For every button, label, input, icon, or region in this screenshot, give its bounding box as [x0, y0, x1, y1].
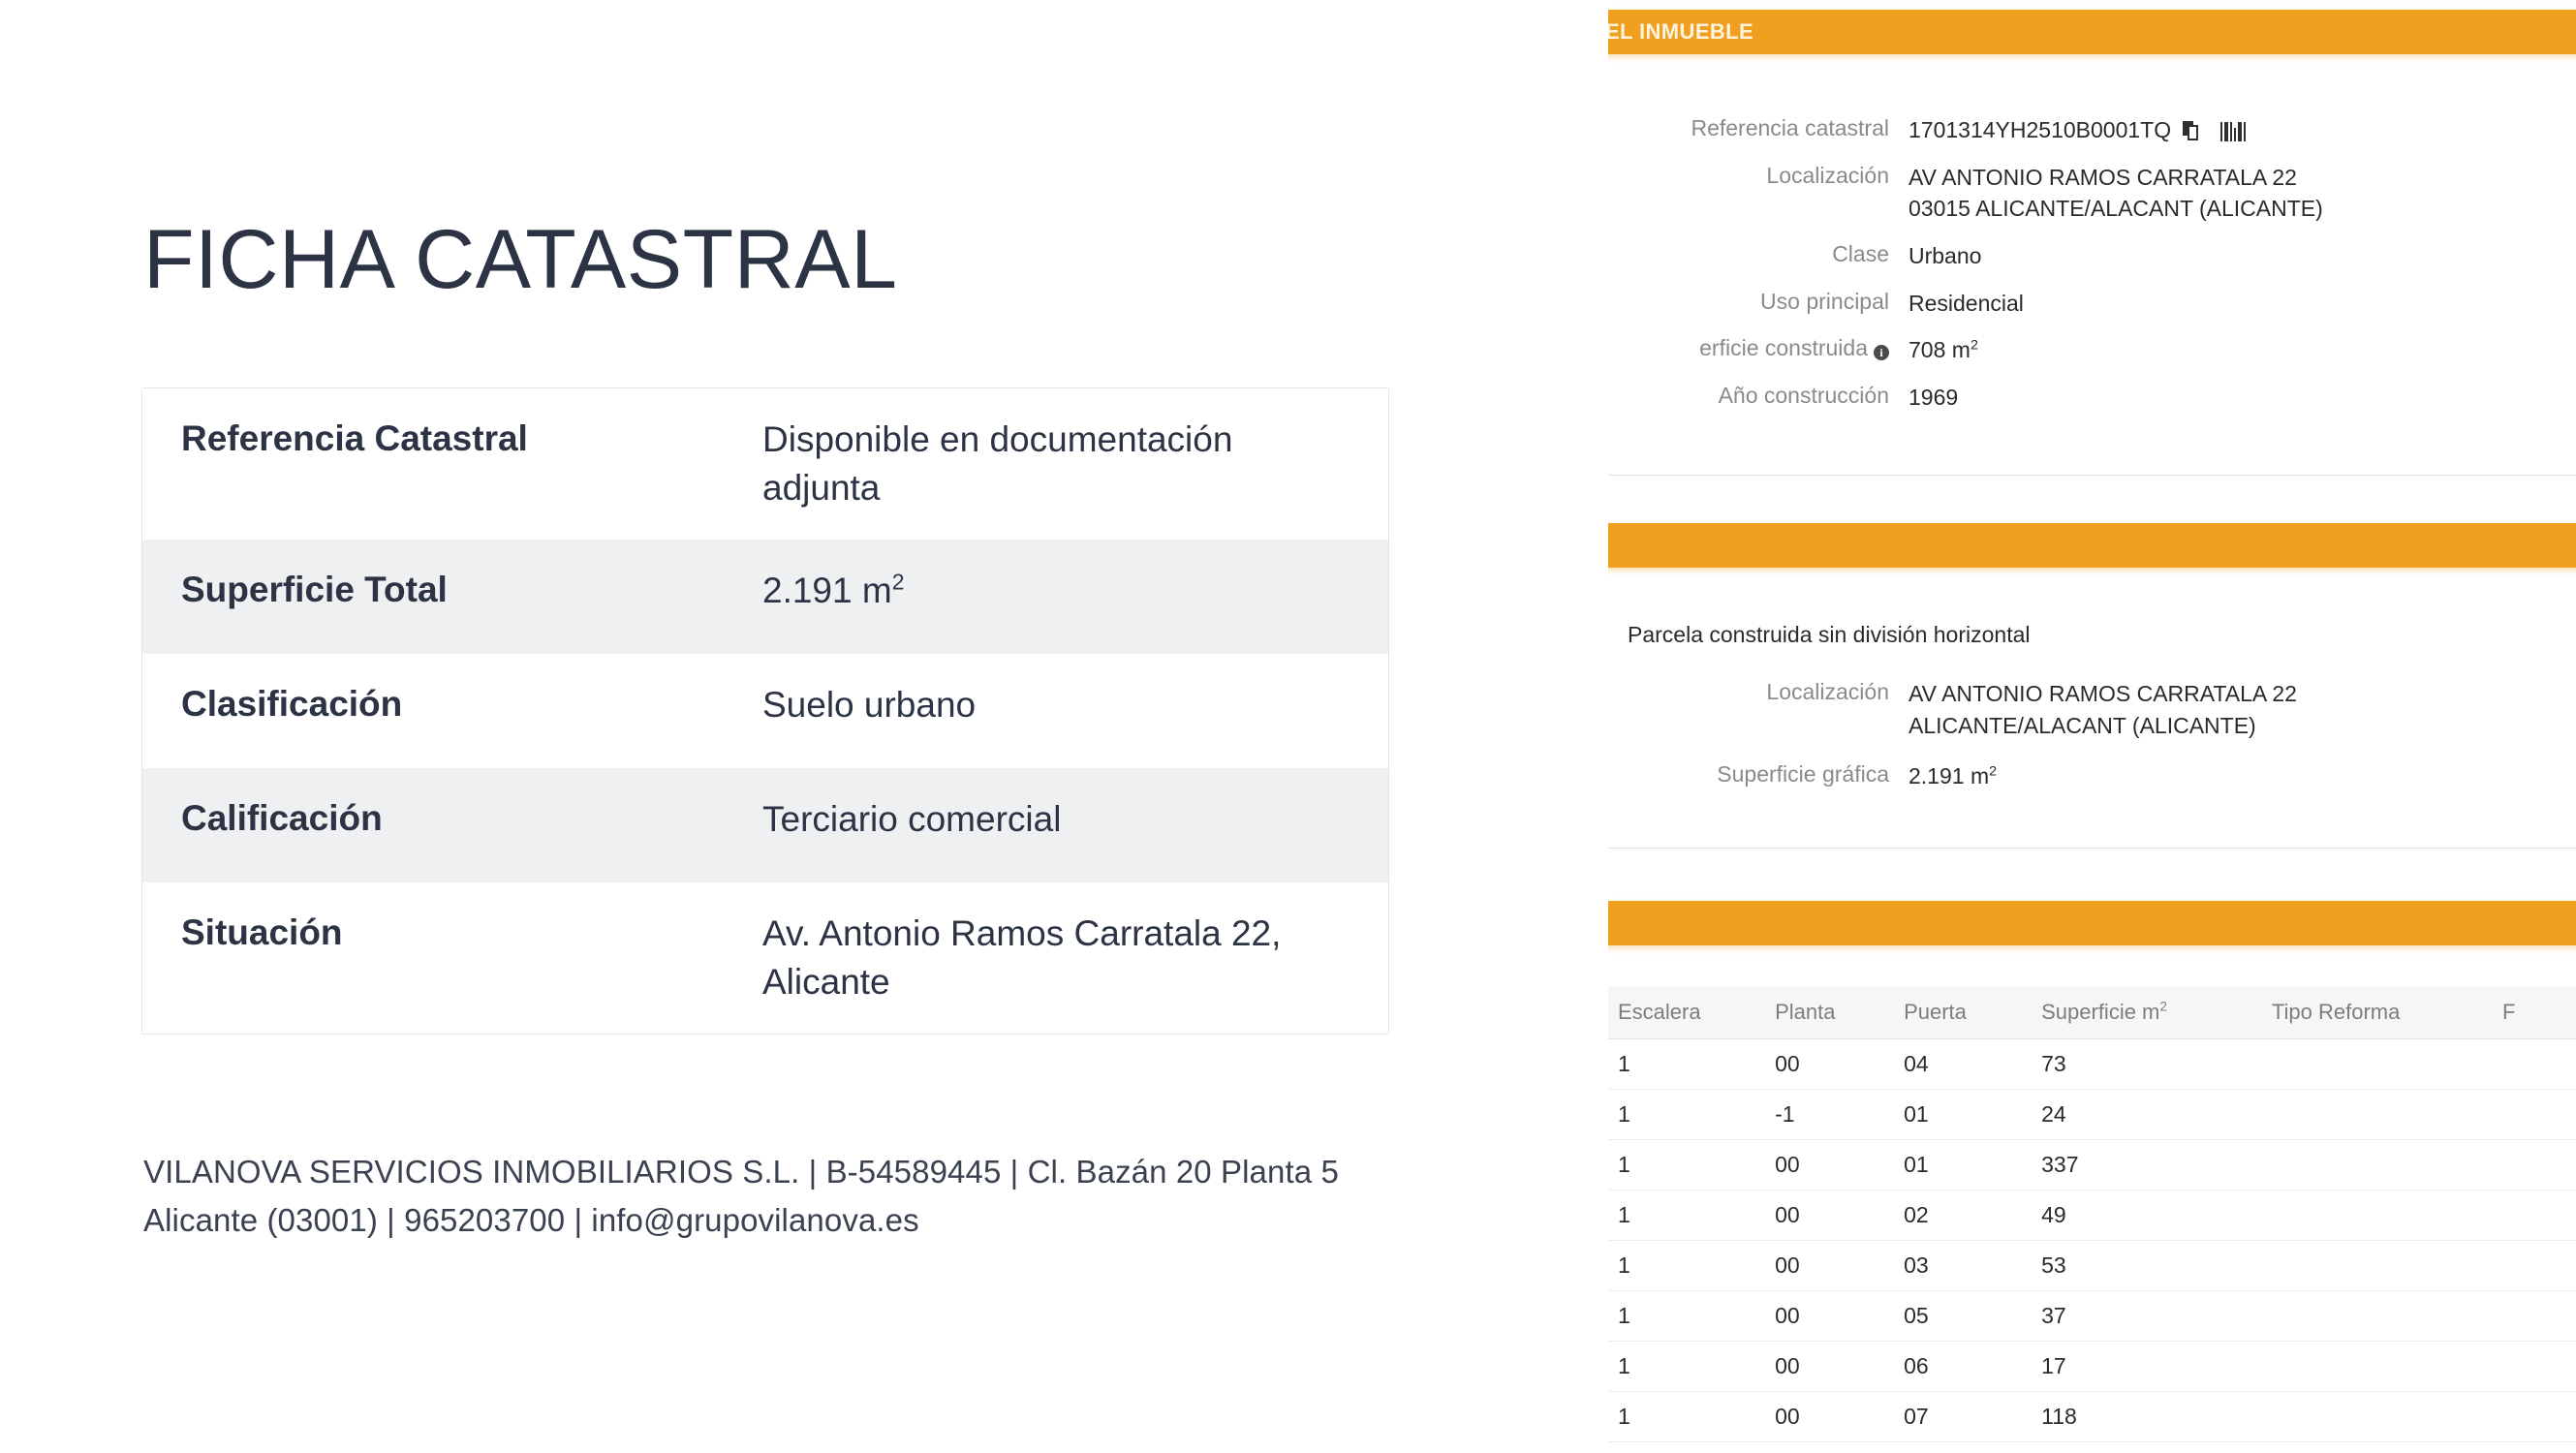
table-row[interactable]: 1 00 03 53 [1608, 1241, 2576, 1291]
field-value-line1: AV ANTONIO RAMOS CARRATALA 22 [1909, 165, 2297, 190]
cell-planta: 00 [1765, 1291, 1894, 1342]
cell-puerta: 01 [1894, 1090, 2032, 1140]
field-value: AV ANTONIO RAMOS CARRATALA 22 ALICANTE/A… [1909, 678, 2576, 741]
col-header-superficie[interactable]: Superficie m2 [2032, 986, 2262, 1039]
row-label: Calificación [142, 795, 762, 843]
section-header-parcela: RAL [1608, 523, 2576, 568]
field-superficie-construida: erficie construidai 708 m2 [1608, 334, 2576, 366]
cell-fecha-reforma [2493, 1392, 2576, 1442]
field-label-text: erficie construida [1699, 335, 1868, 360]
cell-superficie: 49 [2032, 1190, 2262, 1241]
row-value: Av. Antonio Ramos Carratala 22, Alicante [762, 910, 1388, 1006]
field-localizacion-parcela: Localización AV ANTONIO RAMOS CARRATALA … [1608, 678, 2576, 741]
row-label: Referencia Catastral [142, 416, 762, 463]
cell-superficie: 24 [2032, 1090, 2262, 1140]
field-value: 1701314YH2510B0001TQ [1909, 114, 2576, 146]
col-header-tipo-reforma[interactable]: Tipo Reforma [2262, 986, 2493, 1039]
field-uso-principal: Uso principal Residencial [1608, 288, 2576, 320]
cell-escalera: 1 [1608, 1291, 1765, 1342]
row-label: Situación [142, 910, 762, 957]
cell-superficie: 73 [2032, 1039, 2262, 1090]
ficha-summary-table: Referencia Catastral Disponible en docum… [141, 387, 1389, 1035]
field-label: Uso principal [1608, 288, 1909, 317]
unit-superscript: 2 [2159, 1000, 2167, 1014]
table-row: Superficie Total 2.191 m2 [142, 540, 1388, 654]
cell-superficie: 17 [2032, 1342, 2262, 1392]
cell-superficie: 37 [2032, 1291, 2262, 1342]
section-header-construcciones [1608, 901, 2576, 945]
parcela-field-list: Localización AV ANTONIO RAMOS CARRATALA … [1608, 678, 2576, 808]
cell-puerta: 03 [1894, 1241, 2032, 1291]
cell-planta: 00 [1765, 1392, 1894, 1442]
field-value-line2: ALICANTE/ALACANT (ALICANTE) [1909, 710, 2576, 742]
table-row: Referencia Catastral Disponible en docum… [142, 388, 1388, 540]
table-row[interactable]: 1 00 02 49 [1608, 1190, 2576, 1241]
section-header-inmueble: IVOS DEL INMUEBLE [1608, 10, 2576, 54]
field-value-text: 2.191 m [1909, 763, 1989, 788]
field-label: Referencia catastral [1608, 114, 1909, 143]
row-label: Superficie Total [142, 567, 762, 614]
cell-planta: 00 [1765, 1190, 1894, 1241]
unit-superscript: 2 [1989, 764, 1997, 780]
cell-fecha-reforma [2493, 1342, 2576, 1392]
field-value: Residencial [1909, 288, 2576, 320]
cell-tipo-reforma [2262, 1392, 2493, 1442]
table-head: Escalera Planta Puerta Superficie m2 Tip… [1608, 986, 2576, 1039]
cell-fecha-reforma [2493, 1291, 2576, 1342]
col-header-planta[interactable]: Planta [1765, 986, 1894, 1039]
cell-escalera: 1 [1608, 1190, 1765, 1241]
cell-planta: 00 [1765, 1140, 1894, 1190]
cell-puerta: 02 [1894, 1190, 2032, 1241]
cell-planta: 00 [1765, 1241, 1894, 1291]
cell-tipo-reforma [2262, 1090, 2493, 1140]
parcela-note: Parcela construida sin división horizont… [1628, 622, 2031, 648]
table-row: Calificación Terciario comercial [142, 768, 1388, 882]
field-value-line1: AV ANTONIO RAMOS CARRATALA 22 [1909, 681, 2297, 706]
row-value: Terciario comercial [762, 795, 1388, 844]
row-value: Disponible en documentación adjunta [762, 416, 1388, 512]
cell-fecha-reforma [2493, 1190, 2576, 1241]
cell-superficie: 337 [2032, 1140, 2262, 1190]
inmueble-field-list: Referencia catastral 1701314YH2510B0001T… [1608, 114, 2576, 429]
field-localizacion-inmueble: Localización AV ANTONIO RAMOS CARRATALA … [1608, 162, 2576, 225]
barcode-icon[interactable] [2220, 121, 2246, 141]
cell-tipo-reforma [2262, 1190, 2493, 1241]
field-label: Superficie gráfica [1608, 760, 1909, 789]
cell-fecha-reforma [2493, 1090, 2576, 1140]
cell-escalera: 1 [1608, 1342, 1765, 1392]
unit-superscript: 2 [892, 570, 905, 595]
col-header-superficie-text: Superficie m [2041, 1000, 2159, 1024]
field-label: erficie construidai [1608, 334, 1909, 363]
cell-superficie: 53 [2032, 1241, 2262, 1291]
copy-icon[interactable] [2183, 121, 2199, 141]
table-row[interactable]: 1 00 06 17 [1608, 1342, 2576, 1392]
field-value: Urbano [1909, 240, 2576, 272]
company-footer: VILANOVA SERVICIOS INMOBILIARIOS S.L. | … [143, 1148, 1393, 1245]
field-label: Clase [1608, 240, 1909, 269]
cell-tipo-reforma [2262, 1241, 2493, 1291]
cell-planta: -1 [1765, 1090, 1894, 1140]
cell-planta: 00 [1765, 1039, 1894, 1090]
row-label: Clasificación [142, 681, 762, 728]
field-label: Localización [1608, 678, 1909, 707]
field-label: Año construcción [1608, 382, 1909, 411]
cell-fecha-reforma [2493, 1039, 2576, 1090]
col-header-escalera[interactable]: Escalera [1608, 986, 1765, 1039]
section-header-inmueble-label: IVOS DEL INMUEBLE [1608, 19, 1754, 45]
cell-fecha-reforma [2493, 1241, 2576, 1291]
section-divider-1 [1608, 475, 2576, 476]
catastro-viewer-panel: IVOS DEL INMUEBLE Referencia catastral 1… [1608, 0, 2576, 1453]
col-header-fecha-reforma[interactable]: F [2493, 986, 2576, 1039]
row-value: Suelo urbano [762, 681, 1388, 729]
cell-tipo-reforma [2262, 1039, 2493, 1090]
page-title: FICHA CATASTRAL [143, 218, 897, 301]
col-header-puerta[interactable]: Puerta [1894, 986, 2032, 1039]
cell-escalera: 1 [1608, 1039, 1765, 1090]
unit-superscript: 2 [1971, 338, 1978, 354]
table-body: 1 00 04 73 1 -1 01 24 [1608, 1039, 2576, 1442]
field-value: 1969 [1909, 382, 2576, 414]
table-row[interactable]: 1 -1 01 24 [1608, 1090, 2576, 1140]
cell-puerta: 06 [1894, 1342, 2032, 1392]
field-value-line2: 03015 ALICANTE/ALACANT (ALICANTE) [1909, 193, 2576, 225]
field-value: 708 m2 [1909, 334, 2576, 366]
field-ano-construccion: Año construcción 1969 [1608, 382, 2576, 414]
table-row: Situación Av. Antonio Ramos Carratala 22… [142, 882, 1388, 1034]
table-row[interactable]: 1 00 05 37 [1608, 1291, 2576, 1342]
field-label: Localización [1608, 162, 1909, 191]
field-superficie-grafica: Superficie gráfica 2.191 m2 [1608, 760, 2576, 792]
cell-escalera: 1 [1608, 1090, 1765, 1140]
cell-escalera: 1 [1608, 1392, 1765, 1442]
construcciones-table: Escalera Planta Puerta Superficie m2 Tip… [1608, 986, 2576, 1442]
table-header-row: Escalera Planta Puerta Superficie m2 Tip… [1608, 986, 2576, 1039]
info-icon[interactable]: i [1874, 345, 1889, 360]
ficha-catastral-document: FICHA CATASTRAL Referencia Catastral Dis… [0, 0, 1608, 1453]
field-value: AV ANTONIO RAMOS CARRATALA 22 03015 ALIC… [1909, 162, 2576, 225]
cell-tipo-reforma [2262, 1291, 2493, 1342]
cell-puerta: 07 [1894, 1392, 2032, 1442]
field-referencia-catastral: Referencia catastral 1701314YH2510B0001T… [1608, 114, 2576, 146]
cell-fecha-reforma [2493, 1140, 2576, 1190]
cell-tipo-reforma [2262, 1342, 2493, 1392]
section-divider-2 [1608, 848, 2576, 849]
cell-escalera: 1 [1608, 1241, 1765, 1291]
field-value: 2.191 m2 [1909, 760, 2576, 792]
cell-puerta: 04 [1894, 1039, 2032, 1090]
table-row[interactable]: 1 00 01 337 [1608, 1140, 2576, 1190]
table-row[interactable]: 1 00 04 73 [1608, 1039, 2576, 1090]
cell-escalera: 1 [1608, 1140, 1765, 1190]
ref-icons [2183, 121, 2246, 141]
table-row[interactable]: 1 00 07 118 [1608, 1392, 2576, 1442]
cell-planta: 00 [1765, 1342, 1894, 1392]
cell-tipo-reforma [2262, 1140, 2493, 1190]
cell-puerta: 05 [1894, 1291, 2032, 1342]
field-value-text: 708 m [1909, 337, 1971, 362]
cell-puerta: 01 [1894, 1140, 2032, 1190]
table-row: Clasificación Suelo urbano [142, 654, 1388, 768]
row-value: 2.191 m2 [762, 567, 1388, 615]
row-value-text: 2.191 m [762, 571, 892, 610]
page-root: FICHA CATASTRAL Referencia Catastral Dis… [0, 0, 2576, 1453]
field-clase: Clase Urbano [1608, 240, 2576, 272]
field-value-text: 1701314YH2510B0001TQ [1909, 117, 2171, 142]
cell-superficie: 118 [2032, 1392, 2262, 1442]
